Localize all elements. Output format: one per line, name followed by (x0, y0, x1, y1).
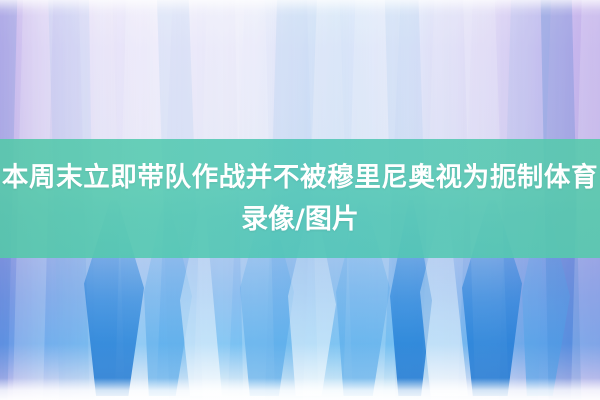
caption-band: 本周末立即带队作战并不被穆里尼奥视为扼制体育 录像/图片 (0, 139, 600, 258)
caption-line-2: 录像/图片 (241, 199, 359, 241)
banner-image: 本周末立即带队作战并不被穆里尼奥视为扼制体育 录像/图片 (0, 0, 600, 400)
bottom-white-fade (0, 378, 600, 400)
caption-line-1: 本周末立即带队作战并不被穆里尼奥视为扼制体育 (2, 157, 598, 199)
top-white-fade (0, 0, 600, 16)
